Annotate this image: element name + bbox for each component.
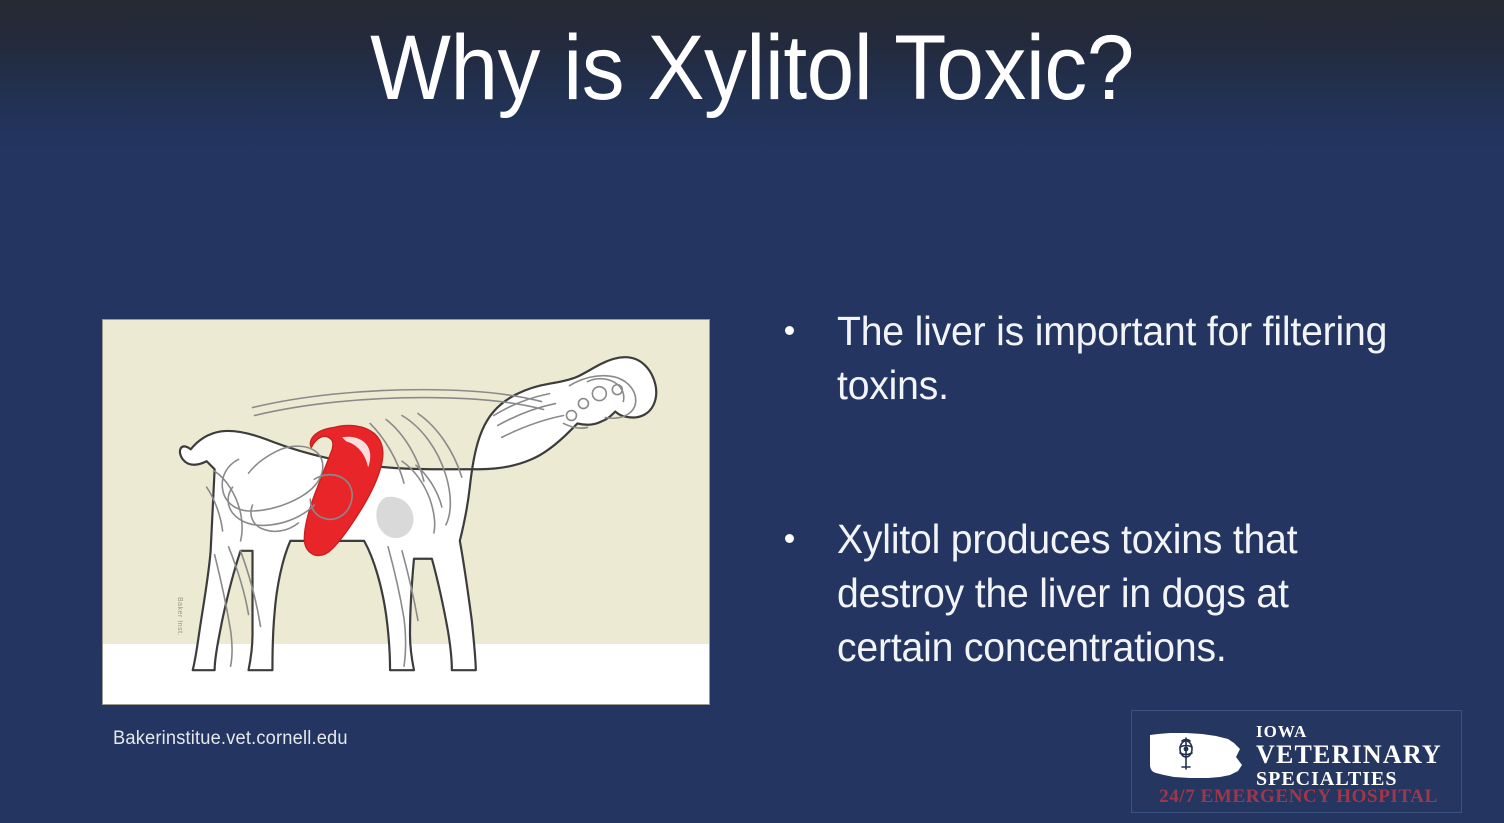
presentation-slide: Why is Xylitol Toxic? bbox=[0, 0, 1504, 823]
logo-line-iowa: IOWA bbox=[1256, 723, 1456, 740]
iowa-veterinary-specialties-logo: IOWA VETERINARY SPECIALTIES 24/7 EMERGEN… bbox=[1131, 710, 1462, 813]
iowa-state-outline-icon bbox=[1146, 725, 1246, 781]
logo-wordmark: IOWA VETERINARY SPECIALTIES bbox=[1256, 723, 1456, 789]
dog-anatomy-image: Baker Inst. bbox=[102, 319, 710, 705]
logo-line-veterinary: VETERINARY bbox=[1256, 742, 1456, 768]
bullet-text: Xylitol produces toxins that destroy the… bbox=[837, 512, 1408, 674]
bullet-item: Xylitol produces toxins that destroy the… bbox=[775, 512, 1435, 674]
logo-tagline: 24/7 EMERGENCY HOSPITAL bbox=[1142, 786, 1455, 808]
image-source-caption: Bakerinstitue.vet.cornell.edu bbox=[113, 727, 348, 751]
bullet-list: The liver is important for filtering tox… bbox=[775, 304, 1435, 674]
slide-title: Why is Xylitol Toxic? bbox=[53, 14, 1452, 122]
bullet-dot-icon bbox=[785, 326, 794, 335]
bullet-item: The liver is important for filtering tox… bbox=[775, 304, 1435, 412]
bullet-text: The liver is important for filtering tox… bbox=[837, 304, 1408, 412]
bullet-dot-icon bbox=[785, 534, 794, 543]
dog-anatomy-illustration bbox=[103, 320, 709, 704]
illustration-signature: Baker Inst. bbox=[175, 597, 183, 639]
